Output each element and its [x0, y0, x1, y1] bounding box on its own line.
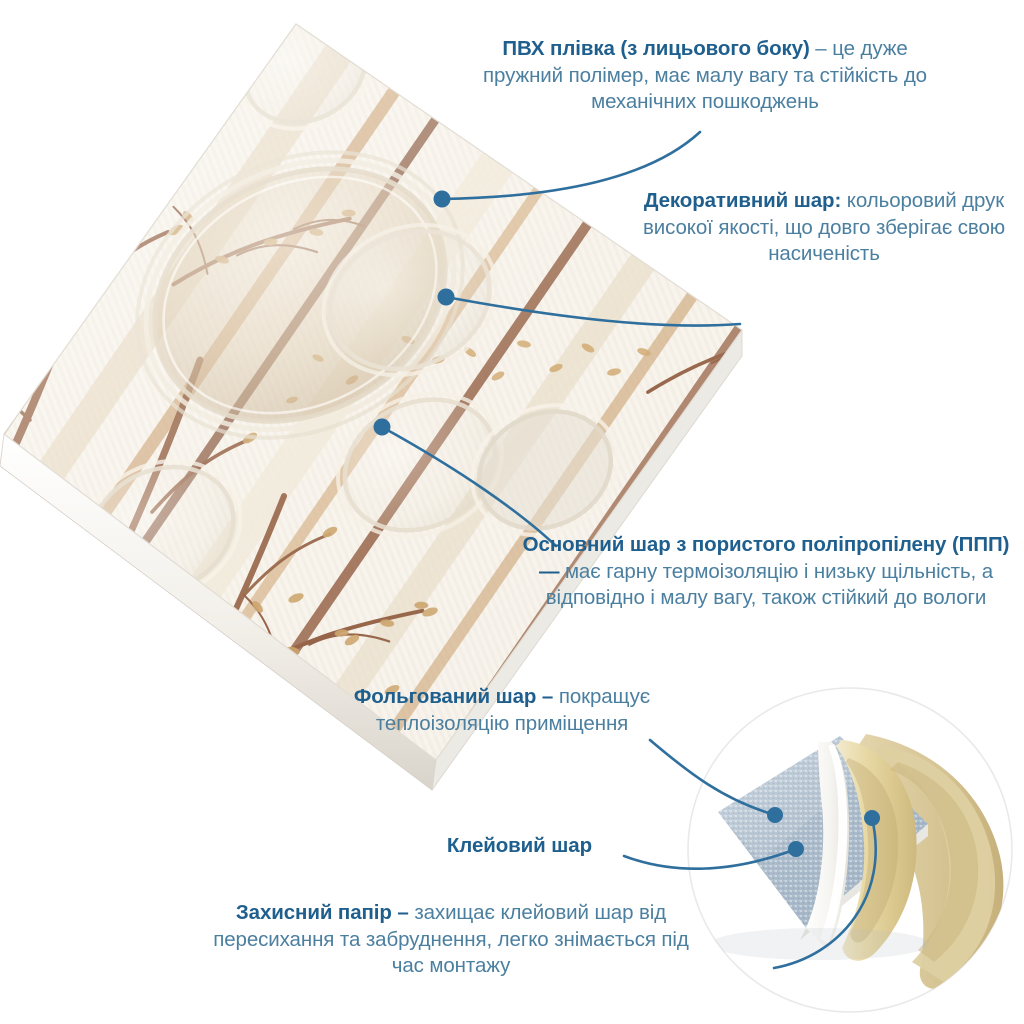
- callout-adhesive-layer-title: Клейовий шар: [447, 834, 592, 857]
- callout-pvc-film-title: ПВХ плівка (з лицьового боку): [502, 37, 809, 60]
- callout-adhesive-layer: Клейовий шар: [330, 833, 592, 860]
- callout-decorative-layer: Декоративний шар: кольоровий друк високо…: [628, 188, 1020, 268]
- callout-decorative-layer-title: Декоративний шар:: [644, 189, 841, 212]
- callout-protective-paper: Захисний папір – захищає клейовий шар ві…: [212, 900, 690, 980]
- callout-protective-paper-title: Захисний папір –: [236, 901, 409, 924]
- callout-polypropylene-layer: Основний шар з пористого поліпропілену (…: [512, 532, 1020, 612]
- callout-polypropylene-layer-body: має гарну термоізоляцію і низьку щільніс…: [546, 560, 993, 610]
- callout-foil-layer: Фольгований шар – покращує теплоізоляцію…: [352, 684, 652, 737]
- callout-pvc-film: ПВХ плівка (з лицьового боку) – це дуже …: [460, 36, 950, 116]
- wallpaper-panel-3d: [0, 0, 1024, 1024]
- callout-foil-layer-title: Фольгований шар –: [354, 685, 553, 708]
